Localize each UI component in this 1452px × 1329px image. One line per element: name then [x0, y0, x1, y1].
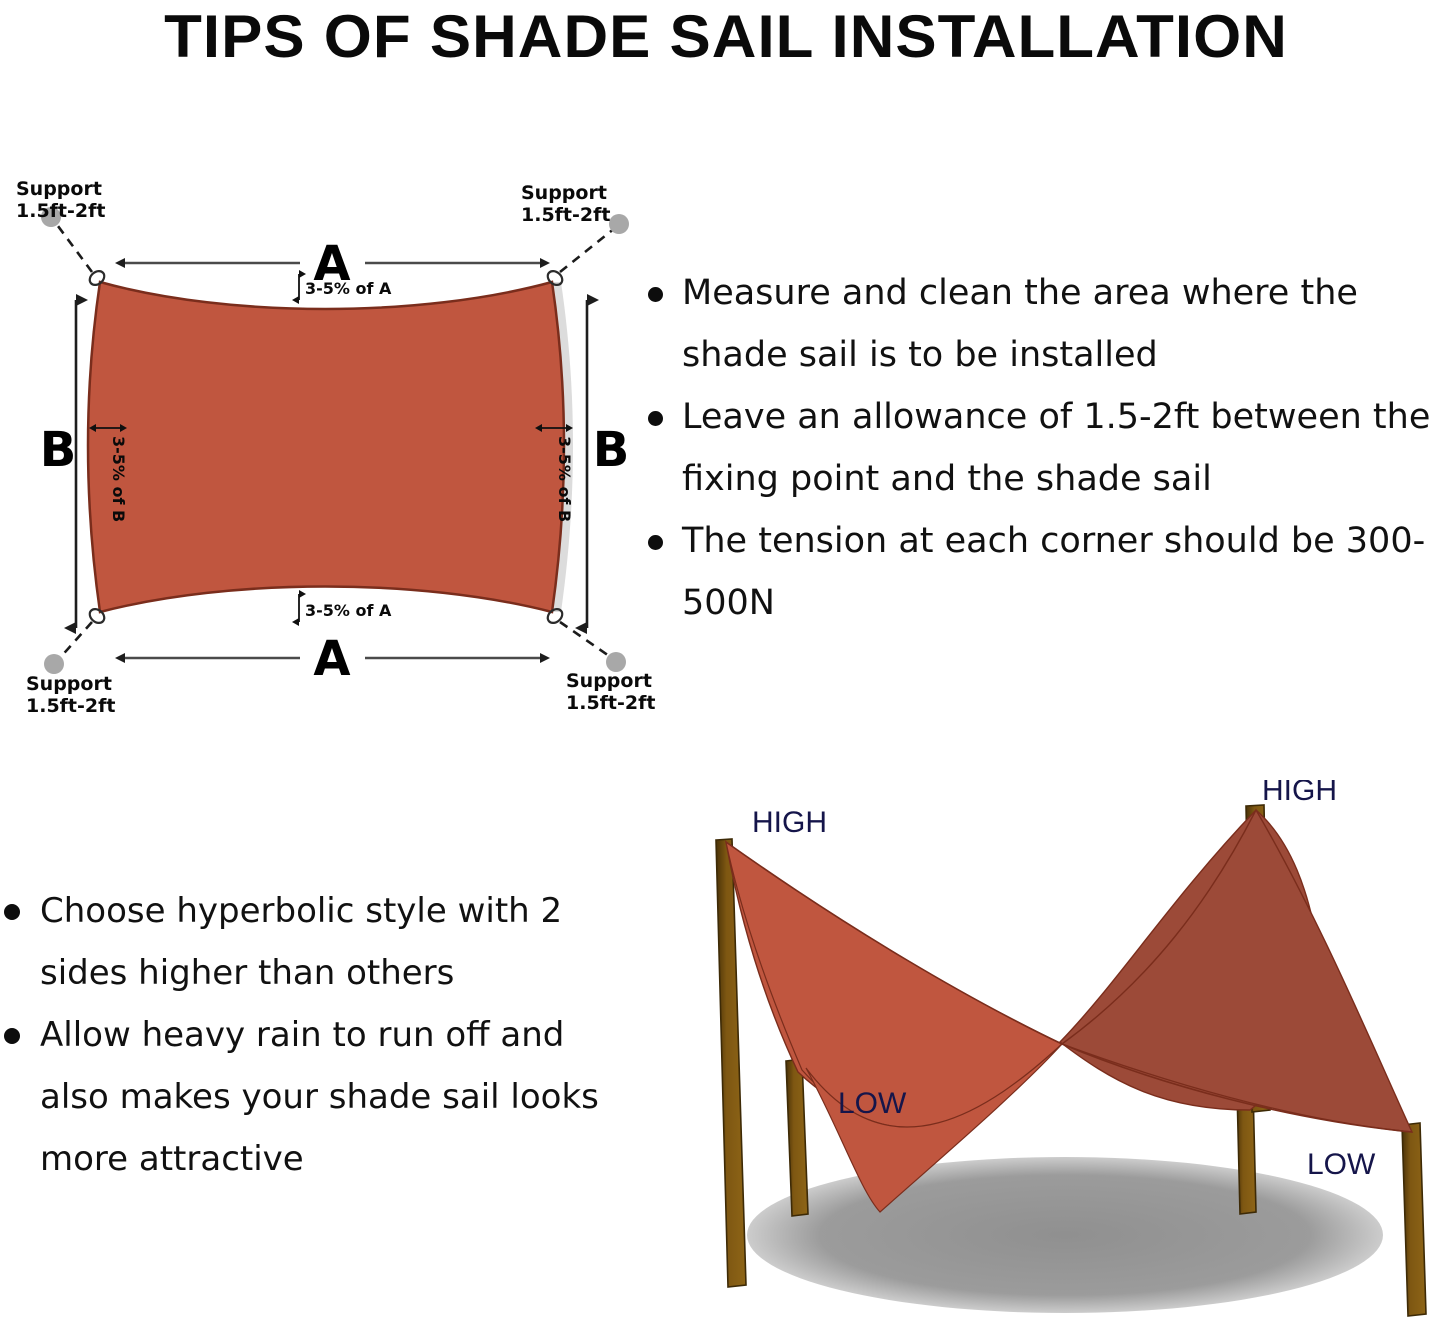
support-label-bottom-left-line2: 1.5ft-2ft: [26, 695, 115, 717]
support-label-top-left-line2: 1.5ft-2ft: [16, 200, 105, 222]
rect-diagram-svg: Support 1.5ft-2ft Support 1.5ft-2ft Supp…: [0, 160, 660, 730]
support-label-top-right-line1: Support: [521, 182, 607, 204]
list-item: Leave an allowance of 1.5-2ft between th…: [640, 386, 1452, 510]
installation-tips-list: Measure and clean the area where the sha…: [640, 262, 1452, 662]
curve-depth-label-right: 3-5% of B: [555, 436, 574, 522]
support-label-bottom-right-line1: Support: [566, 670, 652, 692]
sail-panel-front-wing: [726, 842, 1062, 1128]
dimension-label-height-right: B: [593, 422, 630, 478]
list-item: Choose hyperbolic style with 2 sides hig…: [0, 880, 640, 1004]
list-item: Allow heavy rain to run off and also mak…: [0, 1004, 640, 1190]
hyperbolic-tips-list: Choose hyperbolic style with 2 sides hig…: [0, 880, 640, 1190]
curve-depth-label-top: 3-5% of A: [305, 279, 392, 298]
ground-shadow: [747, 1157, 1383, 1313]
dimension-label-height-left: B: [40, 422, 77, 478]
curve-depth-label-left: 3-5% of B: [109, 436, 128, 522]
hyperbolic-sail-diagram: HIGH HIGH LOW LOW: [690, 780, 1452, 1325]
support-label-bottom-right-line2: 1.5ft-2ft: [566, 692, 655, 714]
support-label-top-right-line2: 1.5ft-2ft: [521, 204, 610, 226]
corner-label-high-right: HIGH: [1262, 780, 1337, 807]
rectangular-sail-diagram: Support 1.5ft-2ft Support 1.5ft-2ft Supp…: [0, 160, 660, 730]
pole-low-left: [786, 1059, 808, 1216]
pole-low-right-front: [1402, 1123, 1426, 1316]
list-item: The tension at each corner should be 300…: [640, 510, 1452, 634]
page-title: TIPS OF SHADE SAIL INSTALLATION: [0, 2, 1452, 71]
list-item: Measure and clean the area where the sha…: [640, 262, 1452, 386]
hyperbolic-style-tips-list: Choose hyperbolic style with 2 sides hig…: [0, 880, 640, 1120]
corner-label-high-left: HIGH: [752, 806, 827, 839]
hyperbolic-diagram-svg: HIGH HIGH LOW LOW: [690, 780, 1452, 1325]
sail-fabric-shape: [88, 282, 564, 612]
corner-label-low-right: LOW: [1307, 1148, 1376, 1181]
tips-list: Measure and clean the area where the sha…: [640, 262, 1452, 634]
corner-label-low-left: LOW: [838, 1087, 907, 1120]
support-label-bottom-left-line1: Support: [26, 673, 112, 695]
sail-panel-right-wing: [1062, 810, 1412, 1132]
support-label-top-left-line1: Support: [16, 178, 102, 200]
dimension-label-width-bottom: A: [313, 631, 350, 687]
curve-depth-label-bottom: 3-5% of A: [305, 601, 392, 620]
